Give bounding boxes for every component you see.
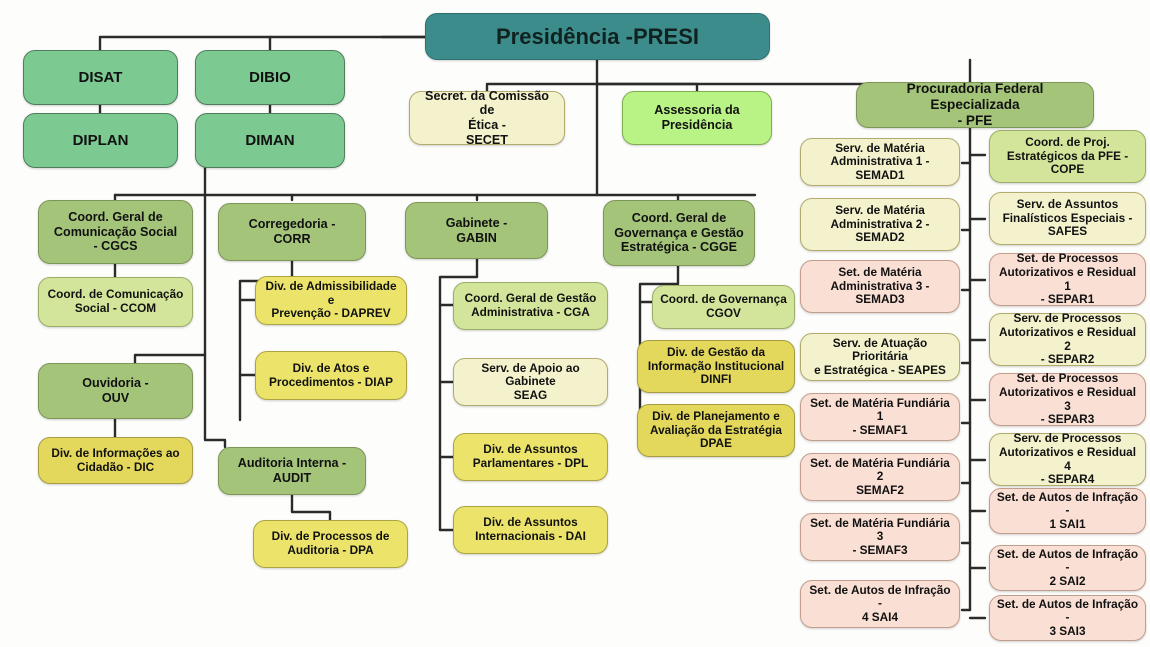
node-assessoria-presidencia[interactable]: Assessoria da Presidência bbox=[622, 91, 772, 145]
node-dpl[interactable]: Div. de Assuntos Parlamentares - DPL bbox=[453, 433, 608, 481]
node-dic[interactable]: Div. de Informações ao Cidadão - DIC bbox=[38, 437, 193, 484]
node-dpae[interactable]: Div. de Planejamento e Avaliação da Estr… bbox=[637, 404, 795, 457]
node-dpa[interactable]: Div. de Processos de Auditoria - DPA bbox=[253, 520, 408, 568]
node-disat[interactable]: DISAT bbox=[23, 50, 178, 105]
node-separ3[interactable]: Set. de Processos Autorizativos e Residu… bbox=[989, 373, 1146, 426]
node-dibio[interactable]: DIBIO bbox=[195, 50, 345, 105]
node-ouv[interactable]: Ouvidoria - OUV bbox=[38, 363, 193, 419]
node-diman[interactable]: DIMAN bbox=[195, 113, 345, 168]
org-chart: Presidência -PRESI DISAT DIBIO DIPLAN DI… bbox=[0, 0, 1150, 647]
node-ccom[interactable]: Coord. de Comunicação Social - CCOM bbox=[38, 277, 193, 327]
node-daprev[interactable]: Div. de Admissibilidade e Prevenção - DA… bbox=[255, 276, 407, 325]
node-dai[interactable]: Div. de Assuntos Internacionais - DAI bbox=[453, 506, 608, 554]
node-safes[interactable]: Serv. de Assuntos Finalísticos Especiais… bbox=[989, 192, 1146, 245]
node-cga[interactable]: Coord. Geral de Gestão Administrativa - … bbox=[453, 282, 608, 330]
node-sai1[interactable]: Set. de Autos de Infração - 1 SAI1 bbox=[989, 488, 1146, 534]
node-audit[interactable]: Auditoria Interna - AUDIT bbox=[218, 447, 366, 495]
node-separ1[interactable]: Set. de Processos Autorizativos e Residu… bbox=[989, 253, 1146, 306]
node-cope[interactable]: Coord. de Proj. Estratégicos da PFE - CO… bbox=[989, 130, 1146, 183]
node-semad1[interactable]: Serv. de Matéria Administrativa 1 - SEMA… bbox=[800, 138, 960, 186]
node-semaf1[interactable]: Set. de Matéria Fundiária 1 - SEMAF1 bbox=[800, 393, 960, 441]
node-separ2[interactable]: Serv. de Processos Autorizativos e Resid… bbox=[989, 313, 1146, 366]
node-semad3[interactable]: Set. de Matéria Administrativa 3 - SEMAD… bbox=[800, 260, 960, 313]
node-diap[interactable]: Div. de Atos e Procedimentos - DIAP bbox=[255, 351, 407, 400]
node-cgge[interactable]: Coord. Geral de Governança e Gestão Estr… bbox=[603, 200, 755, 266]
node-sai4[interactable]: Set. de Autos de Infração - 4 SAI4 bbox=[800, 580, 960, 628]
node-cgov[interactable]: Coord. de Governança CGOV bbox=[652, 285, 795, 329]
node-semad2[interactable]: Serv. de Matéria Administrativa 2 - SEMA… bbox=[800, 198, 960, 251]
node-corr[interactable]: Corregedoria - CORR bbox=[218, 203, 366, 261]
node-separ4[interactable]: Serv. de Processos Autorizativos e Resid… bbox=[989, 433, 1146, 486]
node-pfe[interactable]: Procuradoria Federal Especializada - PFE bbox=[856, 82, 1094, 128]
node-semaf2[interactable]: Set. de Matéria Fundiária 2 SEMAF2 bbox=[800, 453, 960, 501]
node-semaf3[interactable]: Set. de Matéria Fundiária 3 - SEMAF3 bbox=[800, 513, 960, 561]
node-secet[interactable]: Secret. da Comissão de Ética - SECET bbox=[409, 91, 565, 145]
node-diplan[interactable]: DIPLAN bbox=[23, 113, 178, 168]
node-presi[interactable]: Presidência -PRESI bbox=[425, 13, 770, 60]
node-cgcs[interactable]: Coord. Geral de Comunicação Social - CGC… bbox=[38, 200, 193, 264]
node-sai2[interactable]: Set. de Autos de Infração - 2 SAI2 bbox=[989, 545, 1146, 591]
node-seapes[interactable]: Serv. de Atuação Prioritária e Estratégi… bbox=[800, 333, 960, 381]
node-gabin[interactable]: Gabinete - GABIN bbox=[405, 202, 548, 259]
node-dinfi[interactable]: Div. de Gestão da Informação Institucion… bbox=[637, 340, 795, 393]
node-seag[interactable]: Serv. de Apoio ao Gabinete SEAG bbox=[453, 358, 608, 406]
node-sai3[interactable]: Set. de Autos de Infração - 3 SAI3 bbox=[989, 595, 1146, 641]
